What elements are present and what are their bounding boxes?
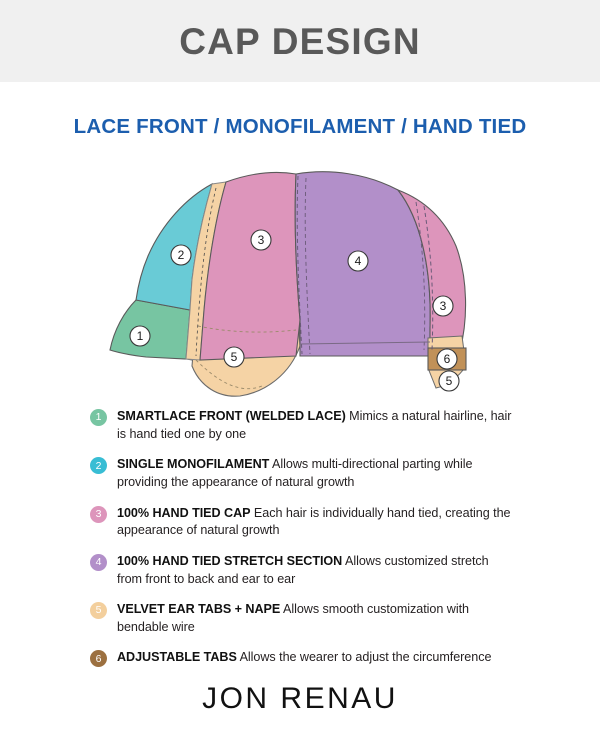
svg-text:3: 3 (440, 299, 447, 313)
legend-bullet-5: 5 (90, 602, 107, 619)
cap-marker-2: 2 (171, 245, 191, 265)
legend-item-5: 5 VELVET EAR TABS + NAPE Allows smooth c… (90, 601, 515, 637)
legend-item-6: 6 ADJUSTABLE TABS Allows the wearer to a… (90, 649, 515, 667)
svg-text:2: 2 (178, 248, 185, 262)
legend-bullet-2: 2 (90, 457, 107, 474)
svg-text:6: 6 (444, 352, 451, 366)
cap-marker-1: 1 (130, 326, 150, 346)
legend-bullet-3: 3 (90, 506, 107, 523)
svg-text:1: 1 (137, 329, 144, 343)
region-smartlace-front (110, 300, 190, 359)
legend-bullet-number-1: 1 (90, 409, 107, 426)
legend-description-6: Allows the wearer to adjust the circumfe… (237, 650, 492, 664)
legend-bullet-6: 6 (90, 650, 107, 667)
legend-bullet-number-3: 3 (90, 506, 107, 523)
brand-logo: JON RENAU (0, 682, 600, 716)
legend-list: 1 SMARTLACE FRONT (WELDED LACE) Mimics a… (90, 408, 515, 680)
legend-text-2: SINGLE MONOFILAMENT Allows multi-directi… (117, 456, 515, 492)
cap-marker-6: 6 (437, 349, 457, 369)
cap-marker-3: 3 (251, 230, 271, 250)
cap-diagram-svg: 1 2 3 4 5 3 6 (100, 160, 500, 400)
svg-text:4: 4 (355, 254, 362, 268)
cap-marker-5-nape: 5 (439, 371, 459, 391)
page-title: CAP DESIGN (179, 23, 421, 60)
legend-bullet-1: 1 (90, 409, 107, 426)
cap-marker-4: 4 (348, 251, 368, 271)
legend-text-5: VELVET EAR TABS + NAPE Allows smooth cus… (117, 601, 515, 637)
legend-bullet-number-2: 2 (90, 457, 107, 474)
cap-marker-5: 5 (224, 347, 244, 367)
legend-item-4: 4 100% HAND TIED STRETCH SECTION Allows … (90, 553, 515, 589)
legend-item-1: 1 SMARTLACE FRONT (WELDED LACE) Mimics a… (90, 408, 515, 444)
legend-bullet-4: 4 (90, 554, 107, 571)
svg-text:5: 5 (446, 374, 453, 388)
svg-text:3: 3 (258, 233, 265, 247)
legend-text-6: ADJUSTABLE TABS Allows the wearer to adj… (117, 649, 491, 667)
legend-title-2: SINGLE MONOFILAMENT (117, 457, 269, 471)
legend-bullet-number-6: 6 (90, 650, 107, 667)
legend-title-3: 100% HAND TIED CAP (117, 506, 250, 520)
cap-marker-3-back: 3 (433, 296, 453, 316)
legend-text-1: SMARTLACE FRONT (WELDED LACE) Mimics a n… (117, 408, 515, 444)
legend-item-2: 2 SINGLE MONOFILAMENT Allows multi-direc… (90, 456, 515, 492)
legend-text-3: 100% HAND TIED CAP Each hair is individu… (117, 505, 515, 541)
subtitle: LACE FRONT / MONOFILAMENT / HAND TIED (0, 115, 600, 139)
legend-title-4: 100% HAND TIED STRETCH SECTION (117, 554, 342, 568)
legend-item-3: 3 100% HAND TIED CAP Each hair is indivi… (90, 505, 515, 541)
legend-bullet-number-4: 4 (90, 554, 107, 571)
page-root: CAP DESIGN LACE FRONT / MONOFILAMENT / H… (0, 0, 600, 750)
legend-title-5: VELVET EAR TABS + NAPE (117, 602, 280, 616)
svg-text:5: 5 (231, 350, 238, 364)
header-band: CAP DESIGN (0, 0, 600, 82)
legend-bullet-number-5: 5 (90, 602, 107, 619)
legend-title-6: ADJUSTABLE TABS (117, 650, 237, 664)
legend-title-1: SMARTLACE FRONT (WELDED LACE) (117, 409, 346, 423)
cap-diagram: 1 2 3 4 5 3 6 (100, 160, 500, 400)
legend-text-4: 100% HAND TIED STRETCH SECTION Allows cu… (117, 553, 515, 589)
